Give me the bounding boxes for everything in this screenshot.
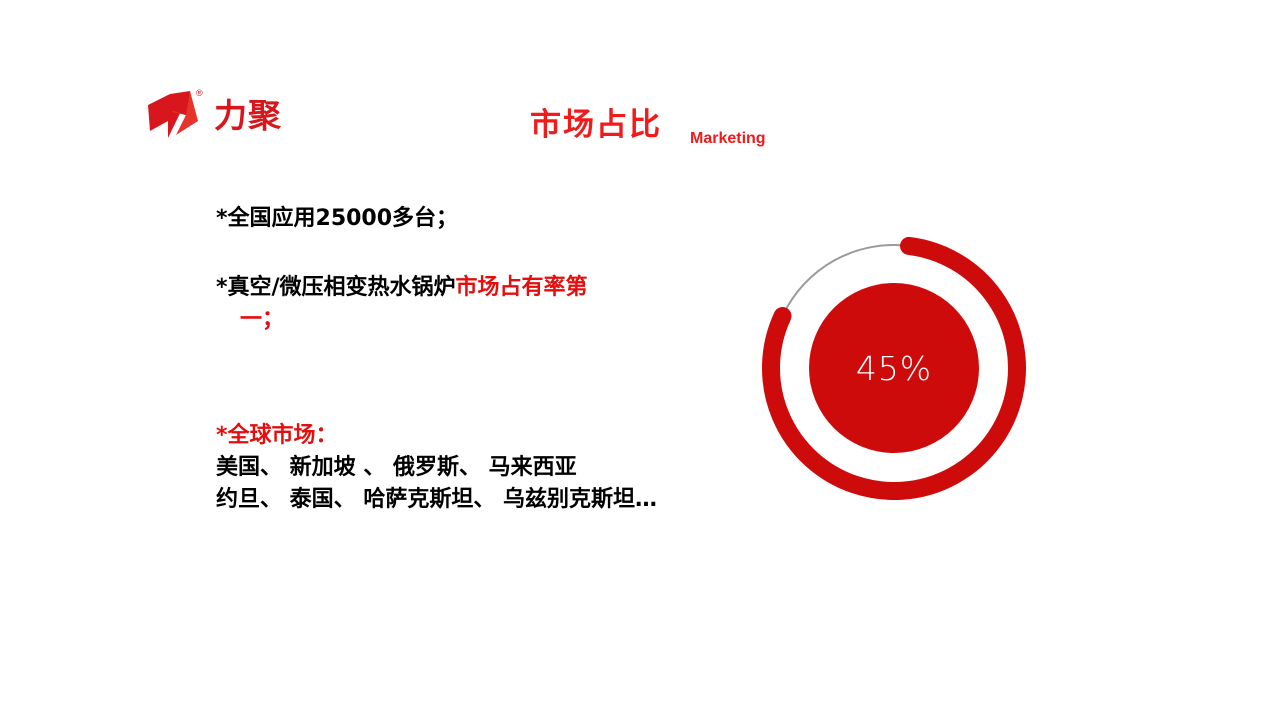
global-markets-block: *全球市场： 美国、 新加坡 、 俄罗斯、 马来西亚 约旦、 泰国、 哈萨克斯坦… [216,420,776,516]
bullet-2-prefix: *真空/微压相变热水锅炉 [216,275,456,300]
registered-trademark-icon: ® [196,89,203,98]
bullet-2-highlight: 市场占有率第 [456,275,588,300]
page-subtitle: Marketing [690,131,766,147]
global-markets-line-2: 约旦、 泰国、 哈萨克斯坦、 乌兹别克斯坦… [216,484,776,516]
bullet-2-wrap-line: 一； [216,304,696,336]
global-markets-line-1: 美国、 新加坡 、 俄罗斯、 马来西亚 [216,452,776,484]
slide-canvas: ® 力聚 市场占比 Marketing *全国应用25000多台； *真空/微压… [0,0,1280,720]
company-logo: ® 力聚 [146,88,406,144]
bullet-item-market-share: *真空/微压相变热水锅炉市场占有率第 一； [216,272,696,336]
market-share-donut-chart: 45% [762,236,1026,500]
bullet-item-installed-units: *全国应用25000多台； [216,206,696,232]
page-title: 市场占比 [530,110,662,141]
bullet-list: *全国应用25000多台； *真空/微压相变热水锅炉市场占有率第 一； [216,206,696,336]
logo-wordmark: 力聚 [214,99,282,134]
donut-inner-circle [809,283,979,453]
lightning-bolt-icon: ® [146,91,208,141]
global-markets-heading: *全球市场： [216,420,776,452]
page-title-block: 市场占比 Marketing [530,110,766,141]
